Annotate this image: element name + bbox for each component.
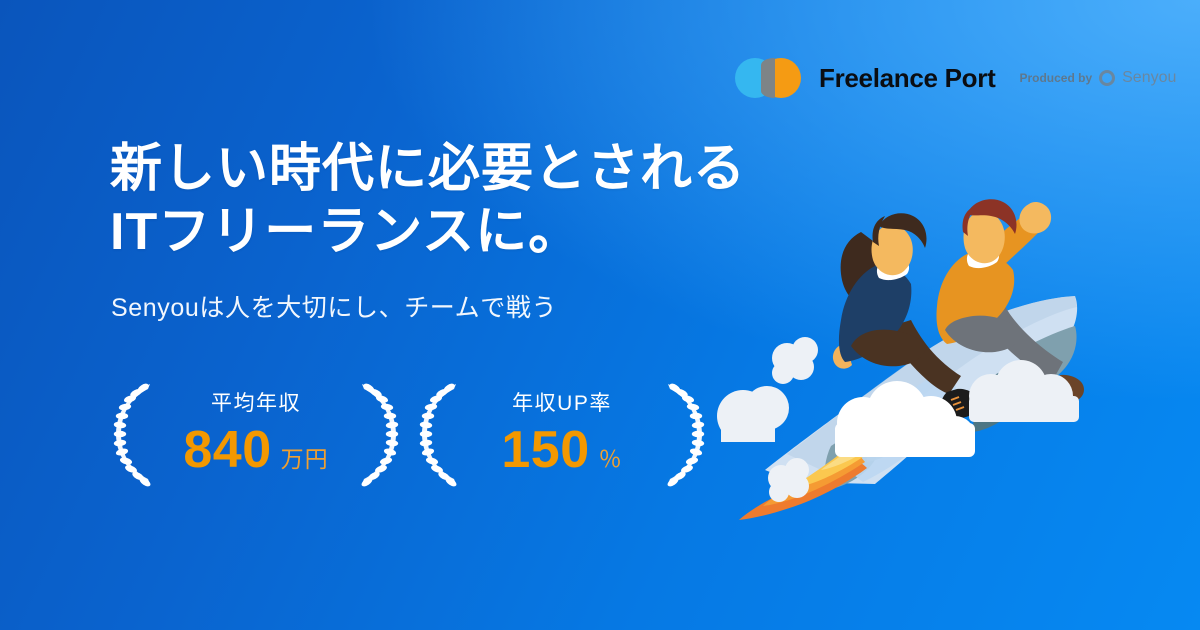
laurel-wreath-icon [356,378,402,490]
produced-by-group: Produced by Senyou [1019,69,1176,87]
stat-card-income-up-rate: 年収UP率 150 ％ [416,378,708,490]
rocket-with-two-people-illustration [735,170,1105,520]
page-title: 新しい時代に必要とされる ITフリーランスに。 [110,138,746,265]
stat-unit: 万円 [281,448,329,471]
laurel-wreath-icon [662,378,708,490]
page-subtitle: Senyouは人を大切にし、チームで戦う [111,288,557,324]
senyou-name: Senyou [1122,69,1176,87]
laurel-wreath-icon [110,378,156,490]
stats-group: 平均年収 840 万円 [110,378,708,490]
cloud-small-icon [772,337,818,384]
logo-circle-overlap [761,58,775,98]
brand-bar: Freelance Port Produced by Senyou [735,58,1176,98]
senyou-ring-icon [1099,70,1115,86]
stat-value-row: 150 ％ [501,424,622,476]
stat-content: 年収UP率 150 ％ [462,378,662,490]
stat-card-average-income: 平均年収 840 万円 [110,378,402,490]
laurel-wreath-icon [416,378,462,490]
stat-value: 150 [501,424,589,476]
produced-by-label: Produced by [1019,71,1092,85]
freelance-port-logo-icon [735,58,801,98]
stat-value: 840 [183,424,271,476]
stat-label: 平均年収 [211,393,301,414]
brand-name: Freelance Port [819,63,995,94]
stat-value-row: 840 万円 [183,424,328,476]
stat-content: 平均年収 840 万円 [156,378,356,490]
stat-unit: ％ [599,448,623,471]
stat-label: 年収UP率 [512,393,612,414]
cloud-left-icon [717,386,789,442]
hero-banner: Freelance Port Produced by Senyou 新しい時代に… [0,0,1200,630]
